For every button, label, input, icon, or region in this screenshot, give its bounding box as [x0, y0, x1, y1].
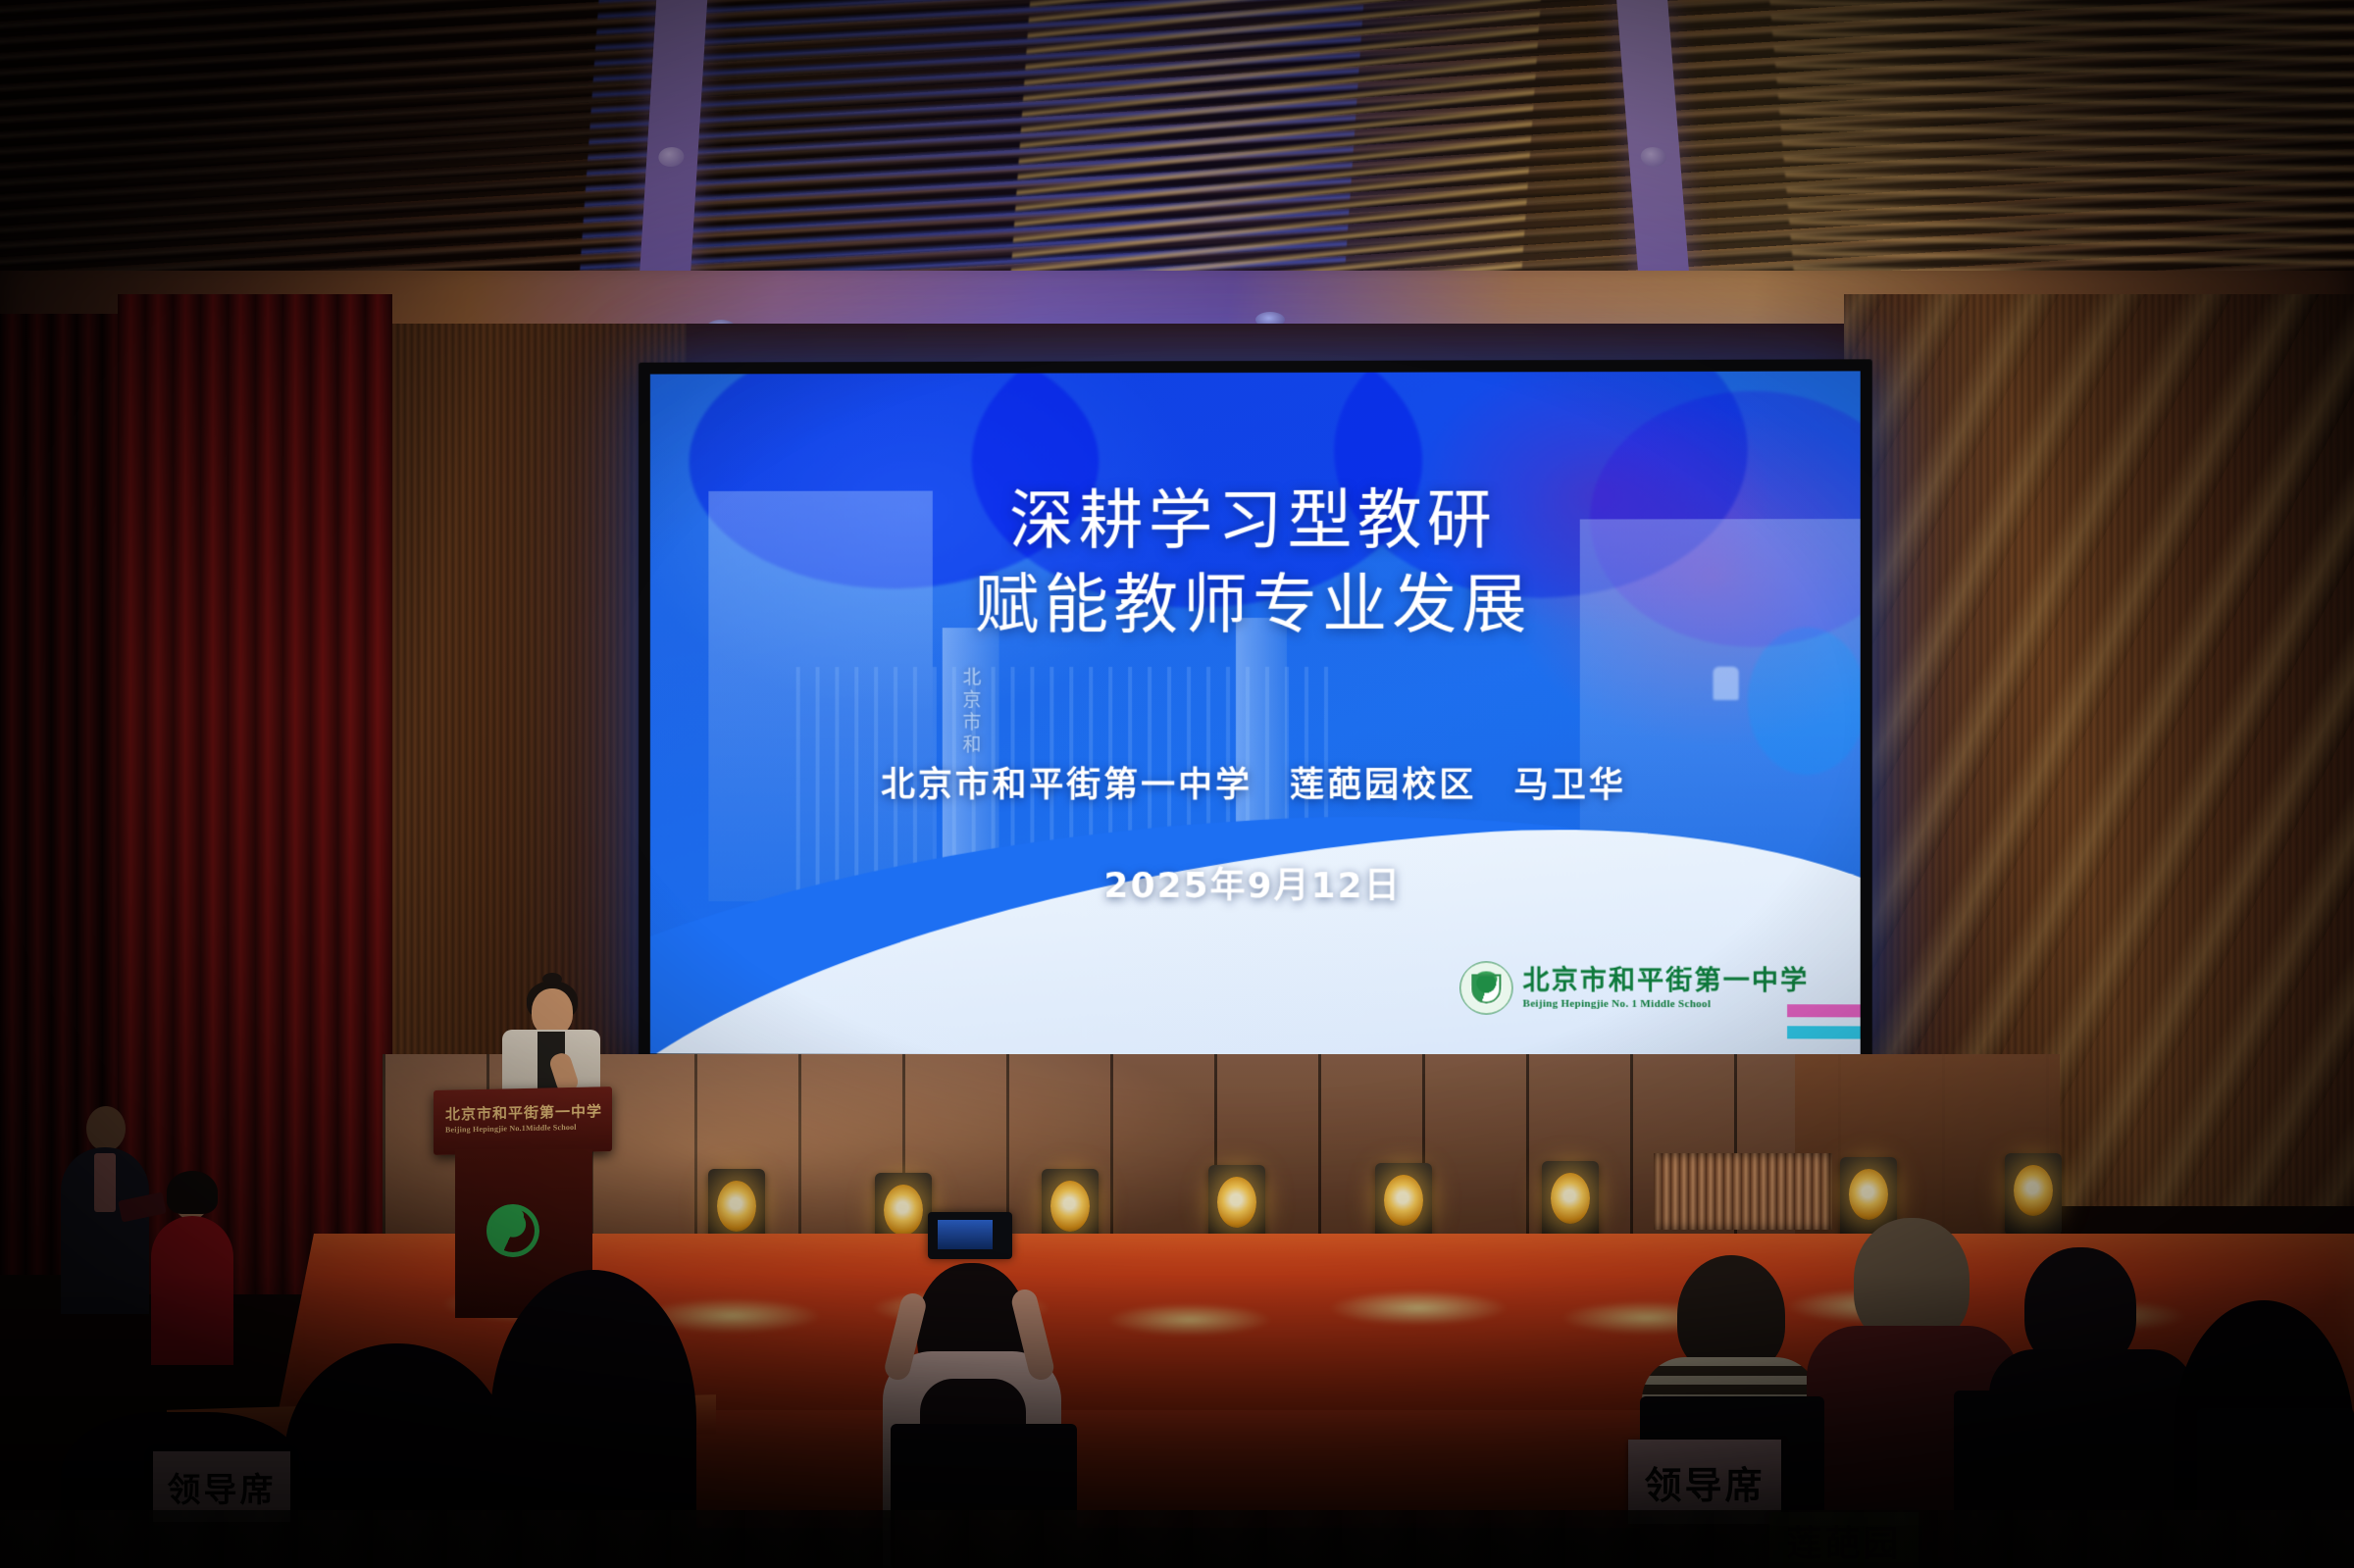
podium-top: 北京市和平街第一中学 Beijing Hepingjie No.1Middle … — [434, 1087, 612, 1155]
slide-surface: 北京市和 深耕学习型教研 赋能教师专业发展 北京市和平街第一中学 莲葩园校区 马… — [650, 371, 1861, 1056]
podium-emblem-icon — [486, 1204, 539, 1257]
auditorium-scene: 北京市和 深耕学习型教研 赋能教师专业发展 北京市和平街第一中学 莲葩园校区 马… — [0, 0, 2354, 1568]
male-host — [61, 1106, 149, 1312]
slide-accent-bars — [1787, 1004, 1861, 1038]
ceiling-gold-lightwash-right — [1765, 0, 2354, 294]
school-emblem-icon — [1459, 961, 1512, 1014]
accent-bar-magenta — [1787, 1004, 1861, 1017]
presenter — [502, 988, 600, 1098]
podium-label-cn: 北京市和平街第一中学 — [445, 1100, 602, 1124]
slide-subtitle: 北京市和平街第一中学 莲葩园校区 马卫华 — [650, 757, 1861, 808]
school-logo-cn: 北京市和平街第一中学 — [1523, 967, 1810, 994]
projection-screen: 北京市和 深耕学习型教研 赋能教师专业发展 北京市和平街第一中学 莲葩园校区 马… — [639, 359, 1872, 1070]
slide-title-line1: 深耕学习型教研 — [650, 478, 1861, 564]
podium-label-en: Beijing Hepingjie No.1Middle School — [445, 1123, 577, 1135]
stage-curtain-left — [118, 294, 392, 1294]
wall-grille — [1654, 1153, 1832, 1230]
ceiling — [0, 0, 2354, 294]
accent-bar-cyan — [1787, 1026, 1861, 1038]
school-logo: 北京市和平街第一中学 Beijing Hepingjie No. 1 Middl… — [1459, 961, 1809, 1015]
auditorium-floor — [0, 1510, 2354, 1568]
slide-title-line2: 赋能教师专业发展 — [650, 562, 1861, 647]
ceiling-gold-lightwash — [1006, 0, 1544, 294]
slide-date: 2025年9月12日 — [650, 856, 1861, 909]
slide-title: 深耕学习型教研 赋能教师专业发展 — [650, 478, 1861, 647]
school-logo-en: Beijing Hepingjie No. 1 Middle School — [1523, 997, 1810, 1010]
female-host-red-dress — [147, 1177, 235, 1363]
